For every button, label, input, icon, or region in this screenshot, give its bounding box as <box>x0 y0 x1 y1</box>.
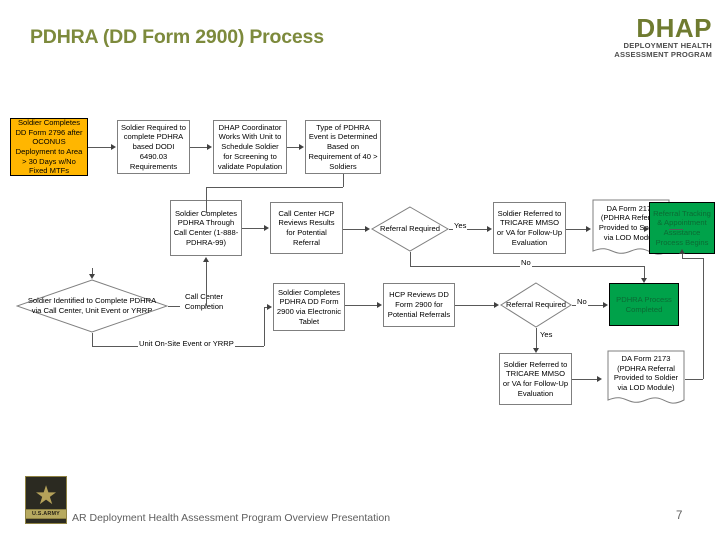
flow-node-type-of-pdhra-event[interactable]: Type of PDHRA Event is Determined Based … <box>305 120 381 174</box>
flow-node-soldier-identified[interactable]: Soldier Identified to Complete PDHRA via… <box>16 279 168 333</box>
page-title: PDHRA (DD Form 2900) Process <box>30 26 324 49</box>
dhap-logo-subtitle-1: DEPLOYMENT HEALTH <box>614 41 712 50</box>
flow-node-soldier-referred-tricare-top[interactable]: Soldier Referred to TRICARE MMSO or VA f… <box>493 202 566 254</box>
arrowhead <box>533 348 539 353</box>
edge-label-no-bottom: No <box>576 297 588 306</box>
flow-node-da-form-2173-bottom[interactable]: DA Form 2173 (PDHRA Referral Provided to… <box>607 350 685 410</box>
flow-node-label: Referral Required <box>371 206 449 252</box>
connector-n7-no-to-n15 <box>644 266 645 278</box>
connector-to-n10-bottom <box>682 258 703 259</box>
edge-label-yes-top: Yes <box>453 221 467 230</box>
arrowhead <box>644 226 649 232</box>
connector-unit-onsite-up <box>264 307 265 346</box>
arrowhead <box>207 144 212 150</box>
flow-node-label: Soldier Identified to Complete PDHRA via… <box>16 279 168 333</box>
edge-label-no-top: No <box>520 258 532 267</box>
flow-node-label: Soldier Referred to TRICARE MMSO or VA f… <box>502 360 569 399</box>
connector-n6-n7 <box>343 229 365 230</box>
arrowhead <box>264 225 269 231</box>
arrowhead <box>597 376 602 382</box>
arrowhead <box>365 226 370 232</box>
connector-n8-n9 <box>566 229 586 230</box>
dhap-logo-subtitle-2: ASSESSMENT PROGRAM <box>614 50 712 59</box>
arrowhead <box>603 302 608 308</box>
flow-node-soldier-required-pdhra[interactable]: Soldier Required to complete PDHRA based… <box>117 120 190 174</box>
footer-text: AR Deployment Health Assessment Program … <box>72 512 390 524</box>
flow-node-label: Soldier Completes DD Form 2796 after OCO… <box>13 118 85 176</box>
flow-node-label: Soldier Required to complete PDHRA based… <box>120 123 187 172</box>
arrowhead <box>586 226 591 232</box>
connector-n7-no-down <box>410 252 411 266</box>
arrowhead <box>267 304 272 310</box>
connector-n1-n2 <box>88 147 111 148</box>
flow-node-referral-required-top[interactable]: Referral Required <box>371 206 449 252</box>
flow-node-label: HCP Reviews DD Form 2900 for Potential R… <box>386 290 452 319</box>
arrowhead <box>203 257 209 262</box>
flow-node-label: Soldier Completes PDHRA DD Form 2900 via… <box>276 288 342 327</box>
edge-label-unit-onsite: Unit On-Site Event or YRRP <box>138 339 235 348</box>
arrowhead <box>299 144 304 150</box>
flow-node-label: Call Center HCP Reviews Results for Pote… <box>273 209 340 248</box>
flow-node-hcp-reviews-dd-2900[interactable]: HCP Reviews DD Form 2900 for Potential R… <box>383 283 455 327</box>
connector-n13-n14 <box>455 305 494 306</box>
arrowhead <box>377 302 382 308</box>
connector-to-n5 <box>206 187 207 213</box>
connector-n12-n13 <box>345 305 377 306</box>
flow-node-soldier-completes-tablet[interactable]: Soldier Completes PDHRA DD Form 2900 via… <box>273 283 345 331</box>
flow-node-label: PDHRA Process Completed <box>612 295 676 314</box>
flow-node-soldier-referred-tricare-bottom[interactable]: Soldier Referred to TRICARE MMSO or VA f… <box>499 353 572 405</box>
arrowhead <box>487 226 492 232</box>
flow-node-label: Referral Required <box>500 282 572 328</box>
dhap-logo: DHAP DEPLOYMENT HEALTH ASSESSMENT PROGRA… <box>614 16 712 60</box>
flow-node-label: Soldier Referred to TRICARE MMSO or VA f… <box>496 209 563 248</box>
arrowhead <box>89 274 95 279</box>
connector-n3-n4 <box>287 147 299 148</box>
page-number: 7 <box>676 510 682 522</box>
flow-node-referral-required-bottom[interactable]: Referral Required <box>500 282 572 328</box>
flow-node-referral-tracking-begins[interactable]: Referral Tracking & Appointment Assistan… <box>649 202 715 254</box>
connector-n17-right <box>685 379 703 380</box>
flow-node-label: Type of PDHRA Event is Determined Based … <box>308 123 378 172</box>
us-army-logo-label: U.S.ARMY <box>25 509 67 519</box>
army-star-icon: ★ <box>34 480 57 510</box>
arrowhead <box>111 144 116 150</box>
flow-node-label: Soldier Completes PDHRA Through Call Cen… <box>173 209 239 248</box>
connector-n9-n10b <box>669 229 683 230</box>
connector-n11-down <box>92 333 93 346</box>
connector-n17-up <box>703 258 704 379</box>
connector-n16-n17 <box>572 379 597 380</box>
connector-callcenter-up <box>206 262 207 306</box>
arrowhead <box>494 302 499 308</box>
flow-node-label: DHAP Coordinator Works With Unit to Sche… <box>216 123 284 172</box>
arrowhead <box>679 249 685 254</box>
edge-label-yes-bottom: Yes <box>539 330 553 339</box>
connector-n10-feed-v <box>682 254 683 258</box>
connector-n4-down <box>343 174 344 187</box>
connector-n4-left <box>206 187 343 188</box>
edge-label-call-center-completion: Call Center Completion <box>180 292 228 312</box>
connector-n14-yes-down <box>536 328 537 348</box>
connector-n2-n3 <box>190 147 207 148</box>
flow-node-label: Referral Tracking & Appointment Assistan… <box>652 209 712 248</box>
flow-node-soldier-completes-2796[interactable]: Soldier Completes DD Form 2796 after OCO… <box>10 118 88 176</box>
dhap-logo-main: DHAP <box>614 16 712 41</box>
flow-node-label: DA Form 2173 (PDHRA Referral Provided to… <box>607 350 685 397</box>
arrowhead <box>641 278 647 283</box>
flow-node-dhap-coordinator[interactable]: DHAP Coordinator Works With Unit to Sche… <box>213 120 287 174</box>
slide-canvas: PDHRA (DD Form 2900) Process DHAP DEPLOY… <box>0 0 720 540</box>
flow-node-call-center-hcp-reviews[interactable]: Call Center HCP Reviews Results for Pote… <box>270 202 343 254</box>
flow-node-pdhra-process-completed[interactable]: PDHRA Process Completed <box>609 283 679 326</box>
connector-n5-n6 <box>242 228 264 229</box>
